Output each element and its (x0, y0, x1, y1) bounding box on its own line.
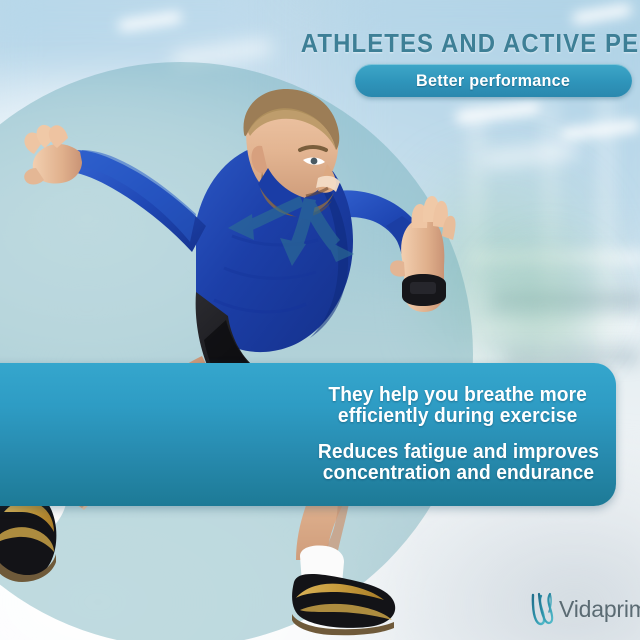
badge-label: Better performance (416, 71, 570, 91)
benefit-item-2: Reduces fatigue and improves concentrati… (317, 442, 598, 484)
athlete-front-shoe (292, 574, 395, 635)
benefit-item-1: They help you breathe more efficiently d… (329, 385, 588, 427)
benefits-text-group: They help you breathe more efficiently d… (300, 363, 616, 506)
benefit-1-line-2: efficiently during exercise (338, 405, 577, 427)
better-performance-badge[interactable]: Better performance (355, 64, 632, 97)
vidaprime-v-icon (528, 590, 558, 628)
brand-name: Vidaprime (559, 596, 640, 623)
athlete-left-hand (24, 46, 82, 185)
benefit-2-line-1: Reduces fatigue and improves (317, 441, 598, 463)
benefit-1-line-1: They help you breathe more (329, 384, 588, 406)
benefit-2-line-2: concentration and endurance (322, 462, 593, 484)
page-title: ATHLETES AND ACTIVE PEOPLE (301, 28, 632, 59)
poster-canvas: ATHLETES AND ACTIVE PEOPLE Better perfor… (0, 0, 640, 640)
brand-logo[interactable]: Vidaprime (528, 590, 640, 628)
